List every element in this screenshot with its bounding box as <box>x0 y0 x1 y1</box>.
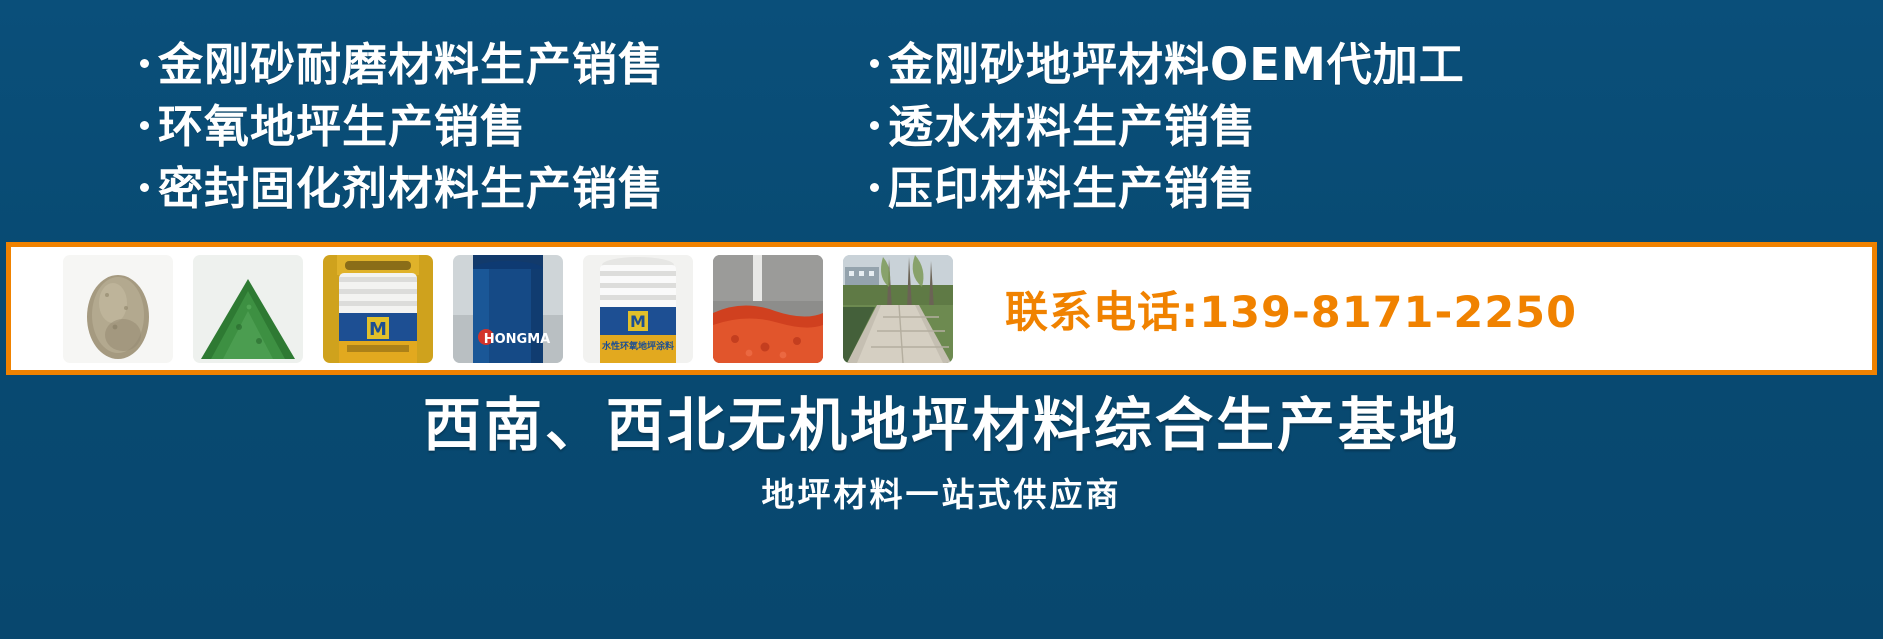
feature-item: 密封固化剂材料生产销售 <box>140 158 860 220</box>
contact-phone-number[interactable]: 联系电话:139-8171-2250 <box>1005 278 1577 340</box>
product-thumbnail-hongma-drum-image: HONGMA <box>453 255 563 363</box>
feature-item: 金刚砂地坪材料OEM代加工 <box>870 34 1883 96</box>
feature-label: 金刚砂地坪材料OEM代加工 <box>888 34 1465 96</box>
feature-label: 透水材料生产销售 <box>888 96 1256 158</box>
feature-column-right: 金刚砂地坪材料OEM代加工 透水材料生产销售 压印材料生产销售 <box>860 34 1883 229</box>
bullet-dot-icon <box>870 59 879 68</box>
product-thumbnail-list: M HONGMA <box>11 255 953 363</box>
feature-item: 金刚砂耐磨材料生产销售 <box>140 34 860 96</box>
banner-tagline: 地坪材料一站式供应商 <box>0 468 1883 516</box>
product-thumbnail-permeable-paving-image <box>713 255 823 363</box>
svg-text:M: M <box>369 319 387 340</box>
svg-text:HONGMA: HONGMA <box>484 332 550 347</box>
feature-label: 环氧地坪生产销售 <box>158 96 526 158</box>
product-strip: M HONGMA <box>6 242 1877 375</box>
feature-item: 环氧地坪生产销售 <box>140 96 860 158</box>
feature-label: 金刚砂耐磨材料生产销售 <box>158 34 664 96</box>
bullet-dot-icon <box>140 183 149 192</box>
svg-text:M: M <box>630 312 646 331</box>
bullet-dot-icon <box>870 183 879 192</box>
promotional-banner: 金刚砂耐磨材料生产销售 环氧地坪生产销售 密封固化剂材料生产销售 金刚砂地坪材料… <box>0 0 1883 639</box>
feature-label: 密封固化剂材料生产销售 <box>158 158 664 220</box>
banner-headline: 西南、西北无机地坪材料综合生产基地 <box>0 385 1883 465</box>
feature-lists: 金刚砂耐磨材料生产销售 环氧地坪生产销售 密封固化剂材料生产销售 金刚砂地坪材料… <box>0 34 1883 229</box>
product-thumbnail-grey-powder-image <box>63 255 173 363</box>
product-thumbnail-sealer-pail-image: M <box>323 255 433 363</box>
product-thumbnail-green-powder-image <box>193 255 303 363</box>
bullet-dot-icon <box>140 59 149 68</box>
feature-label: 压印材料生产销售 <box>888 158 1256 220</box>
feature-item: 压印材料生产销售 <box>870 158 1883 220</box>
feature-item: 透水材料生产销售 <box>870 96 1883 158</box>
feature-column-left: 金刚砂耐磨材料生产销售 环氧地坪生产销售 密封固化剂材料生产销售 <box>0 34 860 229</box>
product-thumbnail-epoxy-pail-image: M 水性环氧地坪涂料 <box>583 255 693 363</box>
product-thumbnail-stamped-path-image <box>843 255 953 363</box>
bullet-dot-icon <box>140 121 149 130</box>
bullet-dot-icon <box>870 121 879 130</box>
svg-text:水性环氧地坪涂料: 水性环氧地坪涂料 <box>602 340 674 352</box>
